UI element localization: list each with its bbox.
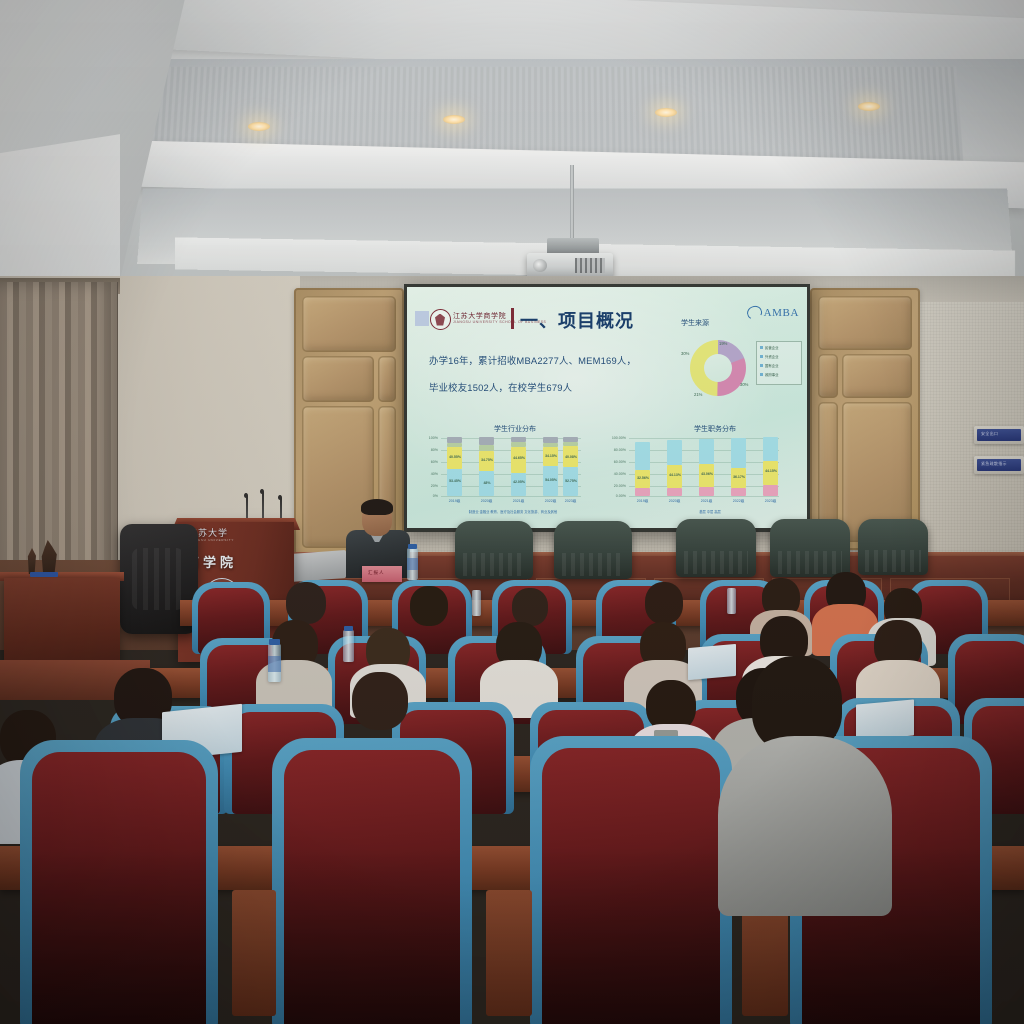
amba-swoosh-icon <box>745 304 763 321</box>
slide-title-bar: 江苏大学商学院 JIANGSU UNIVERSITY SCHOOL OF BUS… <box>415 306 799 332</box>
industry-label-fin-0: 40.55% <box>441 455 469 459</box>
wall-panel <box>302 296 396 352</box>
bar-seg-senior <box>667 488 682 496</box>
water-bottle <box>343 630 354 662</box>
position-cat-4: 2023级 <box>757 499 784 504</box>
bar-seg-middle <box>763 461 778 485</box>
legend-swatch-icon <box>760 373 763 376</box>
industry-ytick-0: 0% <box>420 494 438 498</box>
audience-person <box>512 588 548 626</box>
industry-label-fin-2: 44.65% <box>505 456 533 460</box>
slide-title: 一、项目概况 <box>520 307 634 333</box>
seat-armrest <box>486 890 532 1016</box>
slide-body-text: 办学16年，累计招收MBA2277人、MEM169人， 毕业校友1502人，在校… <box>429 353 629 407</box>
amba-label: AMBA <box>764 307 799 319</box>
audience-person <box>286 582 326 624</box>
slide-accent-square <box>415 311 429 326</box>
bottle-cap <box>269 639 280 645</box>
downlight-icon <box>443 115 465 124</box>
bar-seg-senior <box>763 485 778 496</box>
donut-chart-hole <box>704 354 732 382</box>
audience-laptop <box>688 644 736 680</box>
industry-ytick-100: 100% <box>420 436 438 440</box>
projector-mount-pole <box>570 165 574 243</box>
donut-legend-label-3: 政府事业 <box>765 372 779 377</box>
position-ytick-80: 80.00% <box>600 448 626 452</box>
position-label-mid-1: 44.13% <box>661 473 689 477</box>
slide-title-divider <box>511 308 514 329</box>
industry-label-man-2: 42.05% <box>505 480 533 484</box>
downlight-icon <box>248 122 270 131</box>
industry-label-fin-1: 34.75% <box>473 458 501 462</box>
wall-panel <box>378 356 396 402</box>
industry-cat-4: 2023级 <box>557 499 584 504</box>
lecture-hall-photo: 安全出口 紧急疏散指示 江苏大学商学院 JIANGSU UNIVERSITY S… <box>0 0 1024 1024</box>
water-bottle <box>472 590 481 616</box>
donut-legend-item: 政府事业 <box>760 372 779 377</box>
position-ytick-100: 100.00% <box>600 436 626 440</box>
audience-person <box>352 672 408 730</box>
donut-chart-legend: 民营企业 外资企业 国有企业 政府事业 <box>756 341 802 385</box>
position-label-mid-3: 36.17% <box>725 475 753 479</box>
seat-shading <box>32 752 206 1024</box>
legend-swatch-icon <box>760 346 763 349</box>
donut-legend-label-2: 国有企业 <box>765 363 779 368</box>
presentation-slide: 江苏大学商学院 JIANGSU UNIVERSITY SCHOOL OF BUS… <box>407 287 807 528</box>
gridline <box>441 496 581 497</box>
bar-seg-junior <box>667 440 682 465</box>
slide-body-line-1: 办学16年，累计招收MBA2277人、MEM169人， <box>429 353 629 367</box>
industry-ytick-40: 40% <box>420 472 438 476</box>
amba-accreditation-logo: AMBA <box>747 306 799 319</box>
ceiling <box>0 0 1024 300</box>
downlight-icon <box>655 108 677 117</box>
seat-armrest <box>232 890 276 1016</box>
bottle-cap <box>344 626 353 631</box>
donut-label-0: 30% <box>681 351 689 356</box>
legend-swatch-icon <box>760 364 763 367</box>
bottle-label <box>268 656 281 672</box>
industry-ytick-60: 60% <box>420 460 438 464</box>
audience-tablet <box>856 699 914 740</box>
bar-seg-junior <box>699 439 714 464</box>
position-cat-1: 2020级 <box>661 499 688 504</box>
donut-label-2: 30% <box>740 382 748 387</box>
downlight-icon <box>858 102 880 111</box>
water-bottle <box>727 588 736 614</box>
audience-person <box>410 586 448 626</box>
industry-label-man-0: 53.45% <box>441 479 469 483</box>
microphone-stem <box>262 492 264 522</box>
seat-shading <box>284 750 460 1024</box>
bar-seg-senior <box>635 488 650 496</box>
industry-chart-legend: 制造业 金融业 教育、医疗及社会服务 文化旅游、商业及其他 <box>428 509 598 514</box>
university-logo-icon <box>430 309 451 330</box>
legend-swatch-icon <box>760 355 763 358</box>
industry-label-man-1: 48% <box>473 481 501 485</box>
wall-sign-lower-label: 紧急疏散指示 <box>981 461 1007 467</box>
wall-panel <box>842 354 912 398</box>
position-cat-3: 2022级 <box>725 499 752 504</box>
industry-label-man-4: 52.75% <box>557 479 585 483</box>
industry-ytick-20: 20% <box>420 484 438 488</box>
slide-body-line-2: 毕业校友1502人，在校学生679人 <box>429 380 629 394</box>
bar-seg-manufacture <box>511 473 526 496</box>
wall-sign-upper: 安全出口 <box>974 426 1024 444</box>
projector-lens-icon <box>533 259 547 272</box>
wall-sign-lower: 紧急疏散指示 <box>974 456 1024 474</box>
position-ytick-40: 40.00% <box>600 472 626 476</box>
wall-sign-upper-label: 安全出口 <box>981 431 998 437</box>
bar-seg-junior <box>763 437 778 461</box>
industry-ytick-80: 80% <box>420 448 438 452</box>
microphone-icon <box>278 495 282 500</box>
donut-label-3: 21% <box>694 392 702 397</box>
bar-seg-junior <box>635 442 650 470</box>
projector-vent <box>575 258 605 273</box>
microphone-icon <box>244 493 248 498</box>
wall-panel <box>818 296 912 350</box>
industry-cat-0: 2019级 <box>441 499 468 504</box>
industry-chart-title: 学生行业分布 <box>455 424 575 434</box>
position-label-mid-4: 44.15% <box>757 469 785 473</box>
donut-legend-item: 外资企业 <box>760 354 779 359</box>
wall-panel <box>302 356 374 402</box>
wall-panel <box>818 354 838 398</box>
donut-legend-item: 国有企业 <box>760 363 779 368</box>
position-cat-2: 2021级 <box>693 499 720 504</box>
position-chart-legend: 基层 中层 高层 <box>640 509 780 514</box>
audience-person-front-body <box>718 736 892 916</box>
industry-label-fin-4: 40.08% <box>557 455 585 459</box>
bar-seg-other <box>479 437 494 445</box>
audience-person <box>645 582 683 624</box>
bar-seg-junior <box>731 438 746 468</box>
industry-cat-2: 2021级 <box>505 499 532 504</box>
donut-legend-label-0: 民营企业 <box>765 345 779 350</box>
donut-legend-label-1: 外资企业 <box>765 354 779 359</box>
bar-seg-senior <box>731 488 746 496</box>
gridline <box>629 496 779 497</box>
position-label-mid-2: 43.06% <box>693 472 721 476</box>
audience-area <box>0 560 1024 1024</box>
position-cat-0: 2019级 <box>629 499 656 504</box>
position-ytick-0: 0.00% <box>600 494 626 498</box>
donut-label-1: 19% <box>719 341 727 346</box>
position-ytick-20: 20.00% <box>600 484 626 488</box>
donut-chart-title: 学生来源 <box>681 318 709 328</box>
position-chart-title: 学生职务分布 <box>655 424 775 434</box>
bar-seg-senior <box>699 487 714 496</box>
position-ytick-60: 60.00% <box>600 460 626 464</box>
microphone-icon <box>260 489 264 494</box>
position-label-mid-0: 32.56% <box>629 476 657 480</box>
bar-seg-finance <box>511 447 526 473</box>
industry-cat-1: 2020级 <box>473 499 500 504</box>
bottle-cap <box>408 544 417 549</box>
seat-shading <box>542 748 720 1024</box>
donut-legend-item: 民营企业 <box>760 345 779 350</box>
speaker-hair <box>361 499 393 515</box>
